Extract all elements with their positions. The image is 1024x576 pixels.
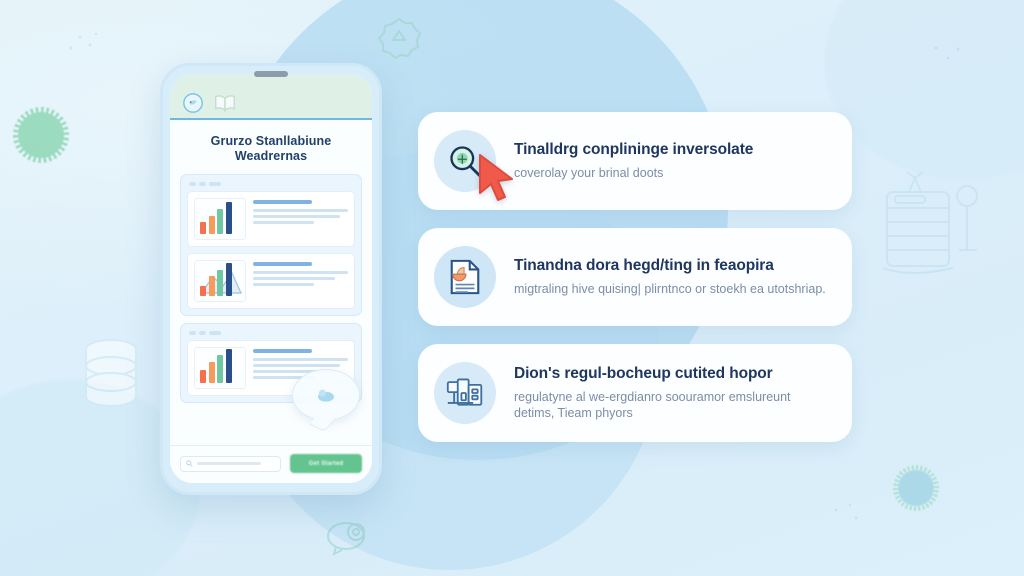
card-text: Tinandna dora hegd/ting in feaopira migt… — [514, 257, 830, 297]
toolbar-chip — [199, 182, 206, 186]
speech-bubble-icon — [292, 369, 360, 421]
cta-button[interactable]: Get Started — [290, 454, 362, 473]
bar-chart-thumbnail — [194, 347, 246, 389]
search-icon — [186, 460, 193, 467]
toolbar-chip — [189, 331, 196, 335]
phone-footer-bar: Get Started — [170, 445, 372, 483]
mouse-cursor-icon — [474, 152, 518, 204]
bar-chart-thumbnail — [194, 198, 246, 240]
toolbar-chip — [189, 182, 196, 186]
phone-speaker-notch — [254, 71, 288, 77]
cloud-glyph-icon — [315, 387, 337, 403]
card-title: Tinalldrg conplininge inversolate — [514, 141, 830, 159]
feature-card-list: Tinalldrg conplininge inversolate covero… — [418, 112, 852, 460]
badge-outline-icon — [376, 14, 422, 60]
feature-card[interactable]: Tinalldrg conplininge inversolate covero… — [418, 112, 852, 210]
card-icon-wrap — [434, 362, 496, 424]
card-subtitle: migtraling hive quising| plirntnco or st… — [514, 281, 830, 297]
feature-card[interactable]: Tinandna dora hegd/ting in feaopira migt… — [418, 228, 852, 326]
server-building-icon — [446, 376, 484, 410]
sparkle-dots-top-left — [66, 28, 100, 58]
list-item-text-lines — [253, 198, 348, 240]
cloud-outline-icon — [322, 512, 374, 558]
phone-list-item[interactable] — [187, 253, 355, 309]
card-text: Dion's regul-bocheup cutited hopor regul… — [514, 365, 830, 421]
card-subtitle: regulatyne al we-ergdianro soouramor ems… — [514, 389, 830, 421]
droplet-avatar-icon[interactable] — [182, 92, 204, 114]
list-item-text-lines — [253, 260, 348, 302]
sparkle-dots-top-right — [930, 40, 964, 70]
phone-list-item[interactable] — [187, 191, 355, 247]
phone-screen: Grurzo Stanllabiune Weadrernas — [170, 74, 372, 483]
card-title: Tinandna dora hegd/ting in feaopira — [514, 257, 830, 275]
toolbar-chip — [209, 182, 221, 186]
phone-title-line-1: Grurzo Stanllabiune — [186, 134, 356, 149]
illustration-canvas: Grurzo Stanllabiune Weadrernas — [0, 0, 1024, 576]
card-text: Tinalldrg conplininge inversolate covero… — [514, 141, 830, 181]
phone-group-toolbar — [189, 182, 353, 186]
toolbar-chip — [199, 331, 206, 335]
search-input[interactable] — [180, 456, 281, 472]
phone-app-header — [170, 74, 372, 120]
virus-spore-left — [18, 112, 64, 158]
server-sketch-icon — [879, 160, 999, 290]
background-blob-top-right — [824, 0, 1024, 180]
open-book-icon[interactable] — [213, 93, 237, 113]
virus-spore-right — [898, 470, 934, 506]
feature-card[interactable]: Dion's regul-bocheup cutited hopor regul… — [418, 344, 852, 442]
phone-mockup: Grurzo Stanllabiune Weadrernas — [160, 63, 382, 495]
phone-group-toolbar — [189, 331, 353, 335]
database-icon — [78, 333, 144, 419]
card-title: Dion's regul-bocheup cutited hopor — [514, 365, 830, 383]
card-icon-wrap — [434, 246, 496, 308]
sparkle-dots-bottom-right — [830, 500, 864, 530]
phone-card-group — [180, 174, 362, 316]
phone-page-title: Grurzo Stanllabiune Weadrernas — [170, 120, 372, 174]
toolbar-chip — [209, 331, 221, 335]
area-chart-thumbnail — [194, 260, 246, 302]
document-report-icon — [448, 259, 482, 295]
phone-title-line-2: Weadrernas — [186, 149, 356, 164]
card-subtitle: coverolay your brinal doots — [514, 165, 830, 181]
